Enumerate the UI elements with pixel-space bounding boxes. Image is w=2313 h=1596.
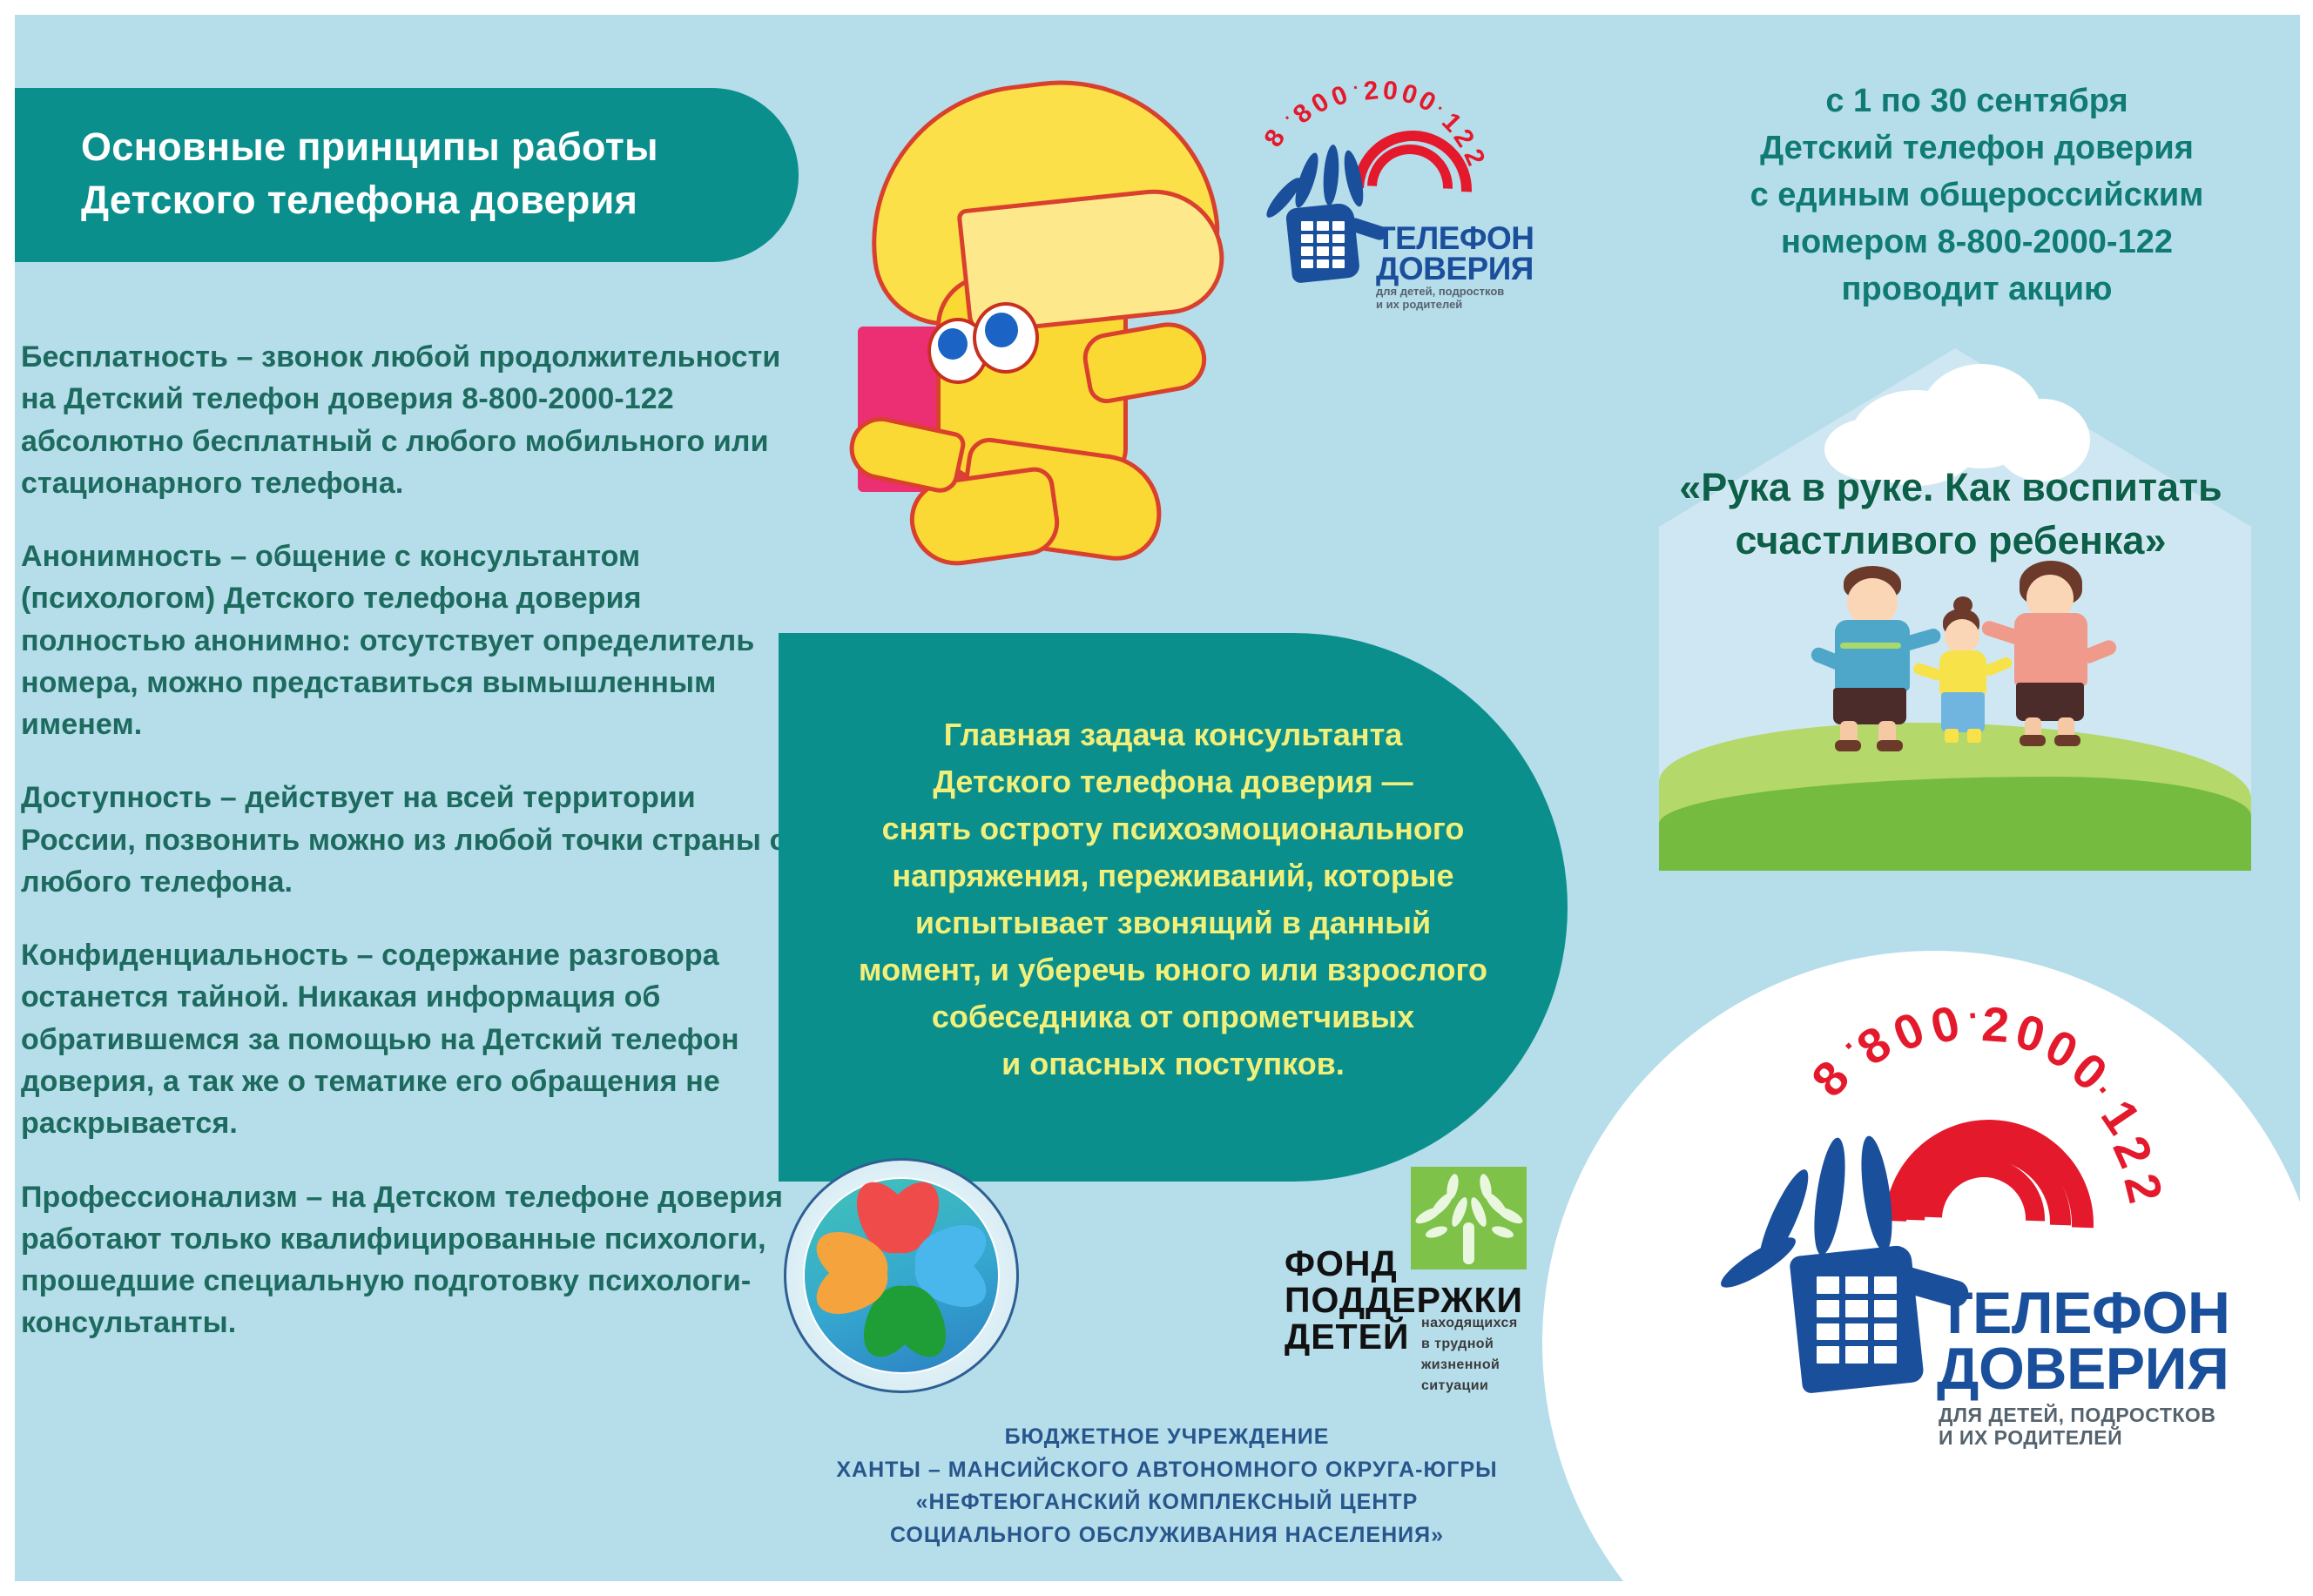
fund-support-logo: ФОНД ПОДДЕРЖКИ ДЕТЕЙ находящихся в трудн… xyxy=(1280,1167,1568,1402)
cloud-icon xyxy=(1824,364,2094,477)
logo-wordmark-line1: ТЕЛЕФОН xyxy=(1376,223,1534,254)
main-message-text: Главная задача консультанта Детского тел… xyxy=(813,711,1533,1088)
fund-line1: ФОНД xyxy=(1285,1243,1398,1284)
logo-subtitle: ДЛЯ ДЕТЕЙ, ПОДРОСТКОВ И ИХ РОДИТЕЛЕЙ xyxy=(1939,1404,2215,1450)
footer-institution-text: БЮДЖЕТНОЕ УЧРЕЖДЕНИЕ ХАНТЫ – МАНСИЙСКОГО… xyxy=(766,1421,1568,1552)
logo-wordmark-line2: ДОВЕРИЯ xyxy=(1376,253,1534,285)
fund-subtitle: находящихся в трудной жизненной ситуации xyxy=(1421,1313,1569,1397)
trust-phone-logo-large: 8 · 8 0 0 · 2 0 0 0 · 1 2 2 ТЕЛЕФОН ДОВЕ… xyxy=(1733,993,2273,1480)
page-title: Основные принципы работы Детского телефо… xyxy=(81,121,658,227)
logo-wordmark-line2: ДОВЕРИЯ xyxy=(1937,1341,2229,1397)
institution-emblem xyxy=(784,1158,1019,1393)
announcement-text: с 1 по 30 сентября Детский телефон довер… xyxy=(1672,78,2282,313)
poster-root: Основные принципы работы Детского телефо… xyxy=(0,0,2313,1596)
trust-phone-logo-small: 8 · 8 0 0 · 2 0 0 0 · 1 2 2 ТЕЛЕФОН ДОВЕ… xyxy=(1263,61,1533,313)
logo-wordmark-line1: ТЕЛЕФОН xyxy=(1937,1285,2230,1342)
principle-item: Бесплатность – звонок любой продолжитель… xyxy=(21,336,796,504)
tree-icon xyxy=(1411,1167,1527,1269)
fund-line3: ДЕТЕЙ xyxy=(1285,1317,1409,1357)
house-caption: «Рука в руке. Как воспитать счастливого … xyxy=(1585,461,2313,568)
family-mother-figure xyxy=(1999,561,2107,748)
family-father-figure xyxy=(1824,566,1929,749)
emblem-petal-orange-icon xyxy=(813,1228,897,1311)
principle-item: Анонимность – общение с консультантом (п… xyxy=(21,535,796,745)
principles-list: Бесплатность – звонок любой продолжитель… xyxy=(21,336,796,1376)
principle-item: Конфиденциальность – содержание разговор… xyxy=(21,934,796,1144)
main-message-block: Главная задача консультанта Детского тел… xyxy=(779,633,1568,1182)
mushroom-right-pupil xyxy=(985,313,1018,347)
principle-item: Профессионализм – на Детском телефоне до… xyxy=(21,1176,796,1344)
header-banner: Основные принципы работы Детского телефо… xyxy=(15,88,799,262)
mushroom-mascot-illustration xyxy=(832,74,1215,596)
principle-item: Доступность – действует на всей территор… xyxy=(21,777,796,903)
mushroom-left-pupil xyxy=(938,328,968,360)
logo-subtitle: для детей, подростков и их родителей xyxy=(1376,286,1504,312)
house-illustration xyxy=(1659,348,2251,871)
phone-keys xyxy=(1817,1276,1897,1364)
phone-keys xyxy=(1301,221,1345,268)
